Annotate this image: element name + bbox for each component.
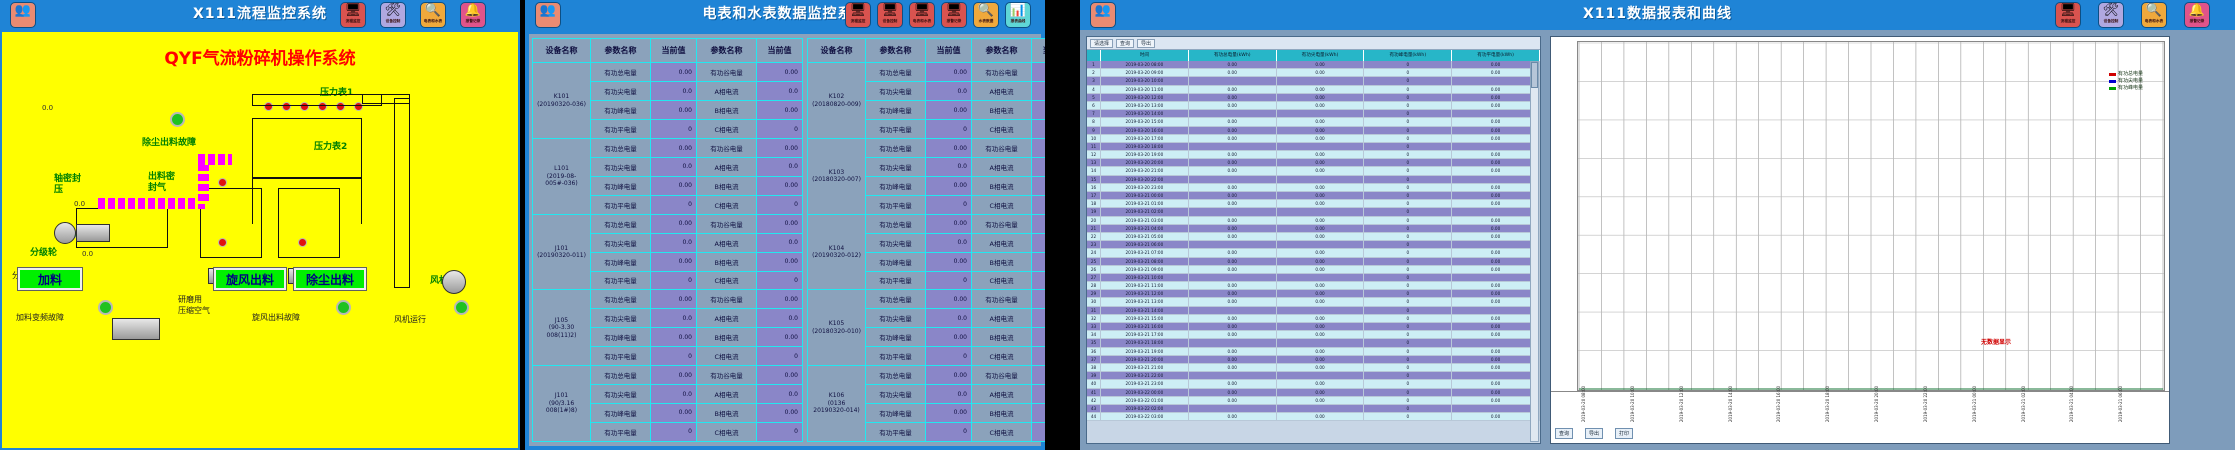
meter-param-name: 有功谷电量	[697, 366, 757, 385]
grid-cell	[1277, 208, 1365, 216]
grid-cell: 0	[1364, 331, 1452, 339]
table-row[interactable]: L101(2019-08-005#-036)有功总电量0.00有功谷电量0.00	[533, 139, 803, 158]
grid-cell: 2019-03-21 07:00	[1101, 249, 1189, 257]
meter-param-name: A相电流	[697, 233, 757, 252]
grid-cell: 27	[1087, 274, 1101, 282]
btn-process-monitor[interactable]: 🖥 流程监控	[845, 2, 871, 28]
btn-alarm-list[interactable]: 🖥 报警记录	[941, 2, 967, 28]
meter-param-name: B相电流	[972, 252, 1032, 271]
table-row[interactable]: 392019-03-21 22:000	[1087, 372, 1540, 380]
btn-label: 流程监控	[2061, 18, 2076, 23]
meter-param-value: 0.0	[651, 82, 697, 101]
meter-param-value: 0	[757, 195, 803, 214]
btn-label: 报警记录	[947, 18, 962, 23]
grid-cell: 0.00	[1452, 200, 1540, 208]
table-row[interactable]: 192019-03-21 02:000	[1087, 208, 1540, 216]
grid-cell: 0.00	[1277, 249, 1365, 257]
meter-col-header: 当前值	[1032, 39, 1046, 63]
grid-cell	[1277, 307, 1365, 315]
grid-column-header[interactable]	[1087, 50, 1101, 61]
meter-param-value: 0.00	[757, 290, 803, 309]
meter-param-value: 0.00	[926, 366, 972, 385]
table-row[interactable]: 172019-03-21 00:000.000.0000.00	[1087, 192, 1540, 200]
table-row[interactable]: 262019-03-21 09:000.000.0000.00	[1087, 266, 1540, 274]
btn-alarm-record[interactable]: 🔔 报警记录	[460, 2, 486, 28]
grid-cell: 0.00	[1277, 233, 1365, 241]
table-row[interactable]: 112019-03-20 18:000	[1087, 143, 1540, 151]
meter-param-name: A相电流	[972, 309, 1032, 328]
meter-col-header: 参数名称	[697, 39, 757, 63]
grid-cell: 0.00	[1452, 233, 1540, 241]
grid-cell: 0.00	[1452, 331, 1540, 339]
grid-cell: 0.00	[1277, 159, 1365, 167]
bell-icon: 🔔	[2189, 4, 2205, 18]
meter-param-name: 有功谷电量	[972, 366, 1032, 385]
grid-column-header[interactable]: 时间	[1101, 50, 1189, 61]
btn-label: 电表和水表	[913, 18, 931, 23]
grid-cell: 2019-03-20 22:00	[1101, 176, 1189, 184]
table-row[interactable]: 182019-03-21 01:000.000.0000.00	[1087, 200, 1540, 208]
meter-param-name: 有功峰电量	[866, 328, 926, 347]
monitor-icon: 🖥	[2060, 4, 2077, 18]
table-row[interactable]: 122019-03-20 19:000.000.0000.00	[1087, 151, 1540, 159]
table-row[interactable]: K101(20190320-036)有功总电量0.00有功谷电量0.00	[533, 63, 803, 82]
meter-device-name: L101(2019-08-005#-036)	[533, 139, 591, 215]
meter-param-value: 0.00	[926, 214, 972, 233]
table-row[interactable]: 302019-03-21 13:000.000.0000.00	[1087, 298, 1540, 306]
grid-cell: 0	[1364, 184, 1452, 192]
btn-device-control[interactable]: 🖥 设备控制	[877, 2, 903, 28]
grid-cell: 2019-03-21 12:00	[1101, 290, 1189, 298]
meter-param-value: 0.00	[757, 139, 803, 158]
meter-param-name: 有功谷电量	[697, 214, 757, 233]
table-row[interactable]: 352019-03-21 18:000	[1087, 339, 1540, 347]
grid-cell: 0.00	[1277, 298, 1365, 306]
grid-cell: 28	[1087, 282, 1101, 290]
meter-param-value: 0.0	[757, 233, 803, 252]
grid-cell: 0.00	[1277, 94, 1365, 102]
grid-cell	[1277, 274, 1365, 282]
grid-cell: 21	[1087, 225, 1101, 233]
grid-column-header[interactable]: 有功总电量(kWh)	[1189, 50, 1277, 61]
grid-cell: 40	[1087, 380, 1101, 388]
meter-param-name: 有功尖电量	[866, 158, 926, 177]
grid-cell: 0.00	[1452, 86, 1540, 94]
table-row[interactable]: 72019-03-20 14:000	[1087, 110, 1540, 118]
scrollbar-thumb[interactable]	[1531, 62, 1538, 88]
meter-param-value: 0.0	[926, 158, 972, 177]
grid-cell: 2019-03-22 03:00	[1101, 413, 1189, 421]
meter-col-header: 当前值	[651, 39, 697, 63]
grid-column-header[interactable]: 有功尖电量(kWh)	[1277, 50, 1365, 61]
meter-param-name: C相电流	[697, 347, 757, 366]
grid-cell: 22	[1087, 233, 1101, 241]
table-row[interactable]: K103(20180320-007)有功总电量0.00有功谷电量0.00	[808, 139, 1046, 158]
chart-x-tick: 2019-03-20 10:00	[1630, 386, 1635, 422]
table-row[interactable]: 282019-03-21 11:000.000.0000.00	[1087, 282, 1540, 290]
grid-cell: 0	[1364, 86, 1452, 94]
table-row[interactable]: 342019-03-21 17:000.000.0000.00	[1087, 331, 1540, 339]
meter-device-name: J101(90/3.16008(1#)8)	[533, 366, 591, 442]
grid-cell: 0.00	[1277, 217, 1365, 225]
meter-param-name: C相电流	[697, 195, 757, 214]
meter-param-value: 0.00	[757, 366, 803, 385]
grid-cell: 0.00	[1277, 258, 1365, 266]
meter-param-value: 0	[926, 271, 972, 290]
btn-label: 报表曲线	[1011, 18, 1026, 23]
grid-cell: 2019-03-21 14:00	[1101, 307, 1189, 315]
table-row[interactable]: 152019-03-20 22:000	[1087, 176, 1540, 184]
meter-param-name: 有功尖电量	[866, 82, 926, 101]
meter-param-name: 有功峰电量	[591, 252, 651, 271]
grid-cell: 0.00	[1452, 167, 1540, 175]
grid-cell	[1277, 241, 1365, 249]
btn-device-control[interactable]: 🛠 设备控制	[380, 2, 406, 28]
table-row[interactable]: 162019-03-20 23:000.000.0000.00	[1087, 184, 1540, 192]
meter-param-value: 0	[1032, 271, 1046, 290]
grid-cell: 0.00	[1189, 364, 1277, 372]
grid-cell: 0.00	[1452, 184, 1540, 192]
cyclone-discharge-button[interactable]: 旋风出料	[214, 268, 286, 290]
grid-cell: 0.00	[1277, 200, 1365, 208]
grid-cell: 2019-03-20 20:00	[1101, 159, 1189, 167]
table-row[interactable]: 372019-03-21 20:000.000.0000.00	[1087, 356, 1540, 364]
meter-col-header: 参数名称	[972, 39, 1032, 63]
btn-meter-water[interactable]: 🔍 电表和水表	[420, 2, 446, 28]
table-row[interactable]: 12019-03-20 08:000.000.0000.00	[1087, 61, 1540, 69]
grid-cell: 35	[1087, 339, 1101, 347]
table-row[interactable]: 142019-03-20 21:000.000.0000.00	[1087, 167, 1540, 175]
grid-cell: 0.00	[1452, 389, 1540, 397]
grid-cell: 30	[1087, 298, 1101, 306]
table-row[interactable]: 42019-03-20 11:000.000.0000.00	[1087, 86, 1540, 94]
dust-discharge-button[interactable]: 除尘出料	[294, 268, 366, 290]
table-row[interactable]: K104(20190320-012)有功总电量0.00有功谷电量0.00	[808, 214, 1046, 233]
btn-label: 电表和水表	[2145, 18, 2163, 23]
table-row[interactable]: 362019-03-21 19:000.000.0000.00	[1087, 348, 1540, 356]
chart-x-tick: 2019-03-20 14:00	[1728, 386, 1733, 422]
grid-cell: 2019-03-20 11:00	[1101, 86, 1189, 94]
chart-export-button[interactable]: 导出	[1585, 428, 1603, 439]
feed-button[interactable]: 加料	[18, 268, 82, 290]
table-row[interactable]: 322019-03-21 15:000.000.0000.00	[1087, 315, 1540, 323]
btn-process-monitor[interactable]: 🖥 流程监控	[2055, 2, 2081, 28]
meter-param-name: C相电流	[697, 271, 757, 290]
grid-cell: 0.00	[1452, 364, 1540, 372]
chart-x-axis: 查询 导出 打印 2019-03-20 08:002019-03-20 10:0…	[1551, 391, 2169, 443]
btn-report-curve[interactable]: 📊 报表曲线	[1005, 2, 1031, 28]
table-row[interactable]: 382019-03-21 21:000.000.0000.00	[1087, 364, 1540, 372]
meter-param-value: 0.00	[757, 328, 803, 347]
pipe-horizontal	[98, 198, 208, 209]
grid-cell	[1277, 405, 1365, 413]
grid-cell: 0	[1364, 208, 1452, 216]
table-row[interactable]: 222019-03-21 05:000.000.0000.00	[1087, 233, 1540, 241]
table-row[interactable]: 82019-03-20 15:000.000.0000.00	[1087, 118, 1540, 126]
grid-cell: 2019-03-21 20:00	[1101, 356, 1189, 364]
meter-param-value: 0.00	[757, 252, 803, 271]
gauge-icon: 🔍	[425, 4, 441, 18]
grid-cell	[1452, 307, 1540, 315]
grid-cell: 8	[1087, 118, 1101, 126]
grid-cell: 0.00	[1452, 69, 1540, 77]
grid-cell: 0	[1364, 143, 1452, 151]
grid-cell: 5	[1087, 94, 1101, 102]
grid-cell: 32	[1087, 315, 1101, 323]
grid-cell: 25	[1087, 258, 1101, 266]
meter-table-left[interactable]: 设备名称参数名称当前值参数名称当前值K101(20190320-036)有功总电…	[532, 38, 803, 442]
grid-cell: 2019-03-21 19:00	[1101, 348, 1189, 356]
grid-cell: 2019-03-20 23:00	[1101, 184, 1189, 192]
table-row[interactable]: J101(90/3.16008(1#)8)有功总电量0.00有功谷电量0.00	[533, 366, 803, 385]
meter-param-name: 有功总电量	[866, 139, 926, 158]
meter-param-name: A相电流	[697, 309, 757, 328]
grid-column-header[interactable]: 有功峰电量(kWh)	[1364, 50, 1452, 61]
grid-cell: 2019-03-21 16:00	[1101, 323, 1189, 331]
meter-param-value: 0.00	[926, 290, 972, 309]
grid-cell: 0	[1364, 151, 1452, 159]
grid-cell: 0	[1364, 167, 1452, 175]
label-shaft-seal: 轴密封 压	[54, 174, 81, 196]
grid-cell: 2019-03-20 09:00	[1101, 69, 1189, 77]
grid-cell: 0.00	[1452, 397, 1540, 405]
grid-cell	[1277, 372, 1365, 380]
table-row[interactable]: K102(20180820-009)有功总电量0.00有功谷电量0.00	[808, 63, 1046, 82]
grid-cell: 0.00	[1452, 315, 1540, 323]
shape-motor	[76, 224, 110, 242]
grid-cell: 0.00	[1277, 348, 1365, 356]
grid-cell: 0.00	[1277, 331, 1365, 339]
chart-x-tick: 2019-03-20 22:00	[1923, 386, 1928, 422]
grid-cell: 0.00	[1452, 356, 1540, 364]
meter-table-right[interactable]: 设备名称参数名称当前值参数名称当前值K102(20180820-009)有功总电…	[807, 38, 1045, 442]
grid-filter-select[interactable]: 请选择	[1090, 39, 1113, 48]
led-alarm-c	[218, 178, 227, 187]
grid-cell: 0	[1364, 274, 1452, 282]
meter-param-value: 0	[926, 120, 972, 139]
grid-cell: 0	[1364, 233, 1452, 241]
table-row[interactable]: 102019-03-20 17:000.000.0000.00	[1087, 135, 1540, 143]
meter-param-value: 0	[757, 422, 803, 441]
grid-cell: 33	[1087, 323, 1101, 331]
meter-param-value: 0.00	[757, 176, 803, 195]
legend-label: 有功尖电量	[2118, 78, 2143, 85]
grid-cell: 0	[1364, 200, 1452, 208]
grid-cell: 0.00	[1189, 127, 1277, 135]
meter-param-name: 有功尖电量	[591, 233, 651, 252]
grid-cell: 0.00	[1452, 413, 1540, 421]
table-row[interactable]: 22019-03-20 09:000.000.0000.00	[1087, 69, 1540, 77]
btn-meter-water[interactable]: 🔍 电表和水表	[2141, 2, 2167, 28]
meter-param-name: 有功总电量	[591, 139, 651, 158]
table-row[interactable]: 312019-03-21 14:000	[1087, 307, 1540, 315]
grid-export-button[interactable]: 导出	[1137, 39, 1155, 48]
table-row[interactable]: 92019-03-20 16:000.000.0000.00	[1087, 127, 1540, 135]
table-row[interactable]: K105(20180320-010)有功总电量0.00有功谷电量0.00	[808, 290, 1046, 309]
table-row[interactable]: 272019-03-21 10:000	[1087, 274, 1540, 282]
table-row[interactable]: 202019-03-21 03:000.000.0000.00	[1087, 217, 1540, 225]
grid-cell: 0.00	[1277, 389, 1365, 397]
meter-param-name: 有功尖电量	[591, 309, 651, 328]
chart-plot-area[interactable]	[1577, 41, 2165, 391]
grid-cell: 2019-03-22 02:00	[1101, 405, 1189, 413]
btn-label: 设备控制	[386, 18, 401, 23]
chart-query-button[interactable]: 查询	[1555, 428, 1573, 439]
legend-swatch	[2109, 73, 2116, 76]
table-row[interactable]: 412019-03-22 00:000.000.0000.00	[1087, 389, 1540, 397]
grid-cell: 2019-03-20 16:00	[1101, 127, 1189, 135]
btn-alarm-record[interactable]: 🔔 报警记录	[2184, 2, 2210, 28]
chart-x-tick: 2019-03-20 08:00	[1581, 386, 1586, 422]
grid-cell: 2019-03-21 06:00	[1101, 241, 1189, 249]
shape-vessel-right	[278, 188, 340, 258]
grid-cell: 2019-03-21 11:00	[1101, 282, 1189, 290]
led-fan-running	[454, 300, 469, 315]
grid-cell: 2019-03-20 21:00	[1101, 167, 1189, 175]
meter-param-name: C相电流	[972, 422, 1032, 441]
grid-cell: 2019-03-21 15:00	[1101, 315, 1189, 323]
meter-param-value: 0.00	[926, 328, 972, 347]
grid-vertical-scrollbar[interactable]	[1530, 61, 1539, 442]
grid-cell: 2019-03-21 09:00	[1101, 266, 1189, 274]
table-row[interactable]: 332019-03-21 16:000.000.0000.00	[1087, 323, 1540, 331]
meter-param-name: A相电流	[972, 158, 1032, 177]
grid-cell: 18	[1087, 200, 1101, 208]
meter-param-value: 0.00	[1032, 101, 1046, 120]
grid-cell: 36	[1087, 348, 1101, 356]
grid-cell: 41	[1087, 389, 1101, 397]
meter-param-name: 有功平电量	[591, 347, 651, 366]
grid-cell: 0	[1364, 298, 1452, 306]
grid-cell: 0.00	[1189, 298, 1277, 306]
meter-param-value: 0.00	[651, 366, 697, 385]
grid-cell: 2019-03-21 18:00	[1101, 339, 1189, 347]
data-grid[interactable]: 请选择 查询 导出 时间有功总电量(kWh)有功尖电量(kWh)有功峰电量(kW…	[1086, 36, 1541, 444]
meter-param-name: 有功总电量	[591, 290, 651, 309]
grid-cell: 0.00	[1277, 86, 1365, 94]
grid-cell: 0	[1364, 372, 1452, 380]
grid-cell: 2019-03-22 00:00	[1101, 389, 1189, 397]
grid-cell: 29	[1087, 290, 1101, 298]
btn-water-meter[interactable]: 🔍 水表数据	[973, 2, 999, 28]
grid-cell: 0.00	[1189, 184, 1277, 192]
meter-param-value: 0.00	[926, 63, 972, 82]
meter-param-value: 0.0	[651, 233, 697, 252]
table-row[interactable]: 422019-03-22 01:000.000.0000.00	[1087, 397, 1540, 405]
grid-cell: 0.00	[1452, 290, 1540, 298]
grid-cell: 43	[1087, 405, 1101, 413]
meter-param-name: 有功尖电量	[591, 82, 651, 101]
meter-param-value: 0	[1032, 120, 1046, 139]
meter-param-name: 有功平电量	[591, 195, 651, 214]
legend-swatch	[2109, 80, 2116, 83]
table-row[interactable]: 292019-03-21 12:000.000.0000.00	[1087, 290, 1540, 298]
grid-cell: 0.00	[1452, 298, 1540, 306]
table-row[interactable]: 32019-03-20 10:000	[1087, 77, 1540, 85]
shape-vessel-left	[200, 188, 262, 258]
chart-x-tick: 2019-03-20 16:00	[1776, 386, 1781, 422]
grid-cell	[1189, 110, 1277, 118]
table-row[interactable]: 402019-03-21 23:000.000.0000.00	[1087, 380, 1540, 388]
meter-param-name: 有功平电量	[866, 422, 926, 441]
table-row[interactable]: J105(90-3.30008(11)2)有功总电量0.00有功谷电量0.00	[533, 290, 803, 309]
meter-param-name: B相电流	[697, 403, 757, 422]
grid-cell: 16	[1087, 184, 1101, 192]
table-row[interactable]: 252019-03-21 08:000.000.0000.00	[1087, 258, 1540, 266]
grid-cell: 2019-03-21 17:00	[1101, 331, 1189, 339]
grid-cell: 0.00	[1189, 397, 1277, 405]
grid-cell: 15	[1087, 176, 1101, 184]
monitor-icon: 🖥	[914, 4, 931, 18]
grid-cell	[1189, 405, 1277, 413]
shape-top-elbow	[362, 94, 410, 104]
label-classifier-wheel: 分级轮	[30, 248, 57, 259]
table-row[interactable]: 432019-03-22 02:000	[1087, 405, 1540, 413]
meter-param-name: C相电流	[697, 422, 757, 441]
grid-cell: 2019-03-21 13:00	[1101, 298, 1189, 306]
grid-cell	[1189, 77, 1277, 85]
meter-param-value: 0.0	[926, 309, 972, 328]
meter-param-name: B相电流	[697, 252, 757, 271]
chart-legend: 有功总电量 有功尖电量 有功峰电量	[2109, 71, 2167, 92]
meter-param-name: B相电流	[697, 101, 757, 120]
grid-cell: 2019-03-21 01:00	[1101, 200, 1189, 208]
grid-cell	[1277, 176, 1365, 184]
meter-col-header: 当前值	[757, 39, 803, 63]
table-row[interactable]: 52019-03-20 12:000.000.0000.00	[1087, 94, 1540, 102]
monitor-icon: 🖥	[850, 4, 867, 18]
meter-param-name: 有功峰电量	[866, 403, 926, 422]
meter-param-name: 有功总电量	[866, 214, 926, 233]
grid-cell: 24	[1087, 249, 1101, 257]
meter-device-name: K106(013620190320-014)	[808, 366, 866, 442]
chart-print-button[interactable]: 打印	[1615, 428, 1633, 439]
btn-process-monitor[interactable]: 🖥 流程监控	[340, 2, 366, 28]
grid-column-header[interactable]: 有功平电量(kWh)	[1452, 50, 1540, 61]
table-row[interactable]: 212019-03-21 04:000.000.0000.00	[1087, 225, 1540, 233]
grid-cell: 0.00	[1277, 380, 1365, 388]
grid-cell: 0.00	[1277, 413, 1365, 421]
grid-body[interactable]: 12019-03-20 08:000.000.0000.0022019-03-2…	[1087, 61, 1540, 421]
meter-param-name: 有功峰电量	[866, 176, 926, 195]
meter-param-value: 0	[651, 120, 697, 139]
btn-meter-monitor[interactable]: 🖥 电表和水表	[909, 2, 935, 28]
grid-query-button[interactable]: 查询	[1116, 39, 1134, 48]
table-row[interactable]: 232019-03-21 06:000	[1087, 241, 1540, 249]
grid-cell: 0	[1364, 413, 1452, 421]
table-row[interactable]: 62019-03-20 13:000.000.0000.00	[1087, 102, 1540, 110]
grid-cell: 0.00	[1277, 127, 1365, 135]
grid-cell	[1189, 274, 1277, 282]
table-row[interactable]: 132019-03-20 20:000.000.0000.00	[1087, 159, 1540, 167]
meter-param-value: 0.00	[926, 101, 972, 120]
btn-label: 水表数据	[979, 18, 994, 23]
btn-device-control[interactable]: 🛠 设备控制	[2098, 2, 2124, 28]
panel-process-monitor: 👥 X111流程监控系统 🖥 流程监控 🛠 设备控制 🔍 电表和水表 🔔 报警记…	[0, 0, 520, 450]
panel3-header: 👥 X111数据报表和曲线 🖥 流程监控 🛠 设备控制 🔍 电表和水表 🔔 报警…	[1080, 0, 2235, 30]
meter-param-value: 0.00	[651, 214, 697, 233]
grid-cell	[1452, 77, 1540, 85]
meter-param-name: 有功谷电量	[972, 290, 1032, 309]
table-row[interactable]: J101(20190320-011)有功总电量0.00有功谷电量0.00	[533, 214, 803, 233]
table-row[interactable]: 442019-03-22 03:000.000.0000.00	[1087, 413, 1540, 421]
grid-cell	[1189, 307, 1277, 315]
table-row[interactable]: K106(013620190320-014)有功总电量0.00有功谷电量0.00	[808, 366, 1046, 385]
table-row[interactable]: 242019-03-21 07:000.000.0000.00	[1087, 249, 1540, 257]
meter-param-value: 0.00	[926, 252, 972, 271]
grid-cell: 3	[1087, 77, 1101, 85]
meter-param-name: A相电流	[697, 82, 757, 101]
